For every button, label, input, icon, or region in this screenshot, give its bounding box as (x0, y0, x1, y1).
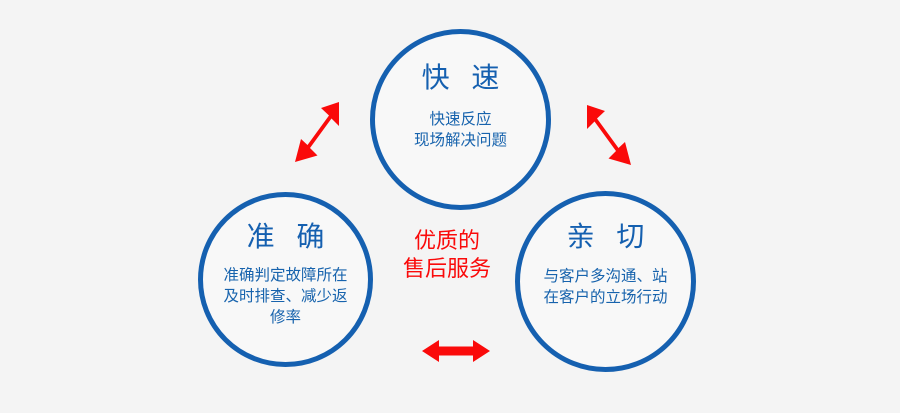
circle-node-right[interactable]: 亲 切 与客户多沟通、站 在客户的立场行动 (515, 191, 696, 372)
circle-left-title: 准 确 (240, 223, 332, 251)
circle-node-left[interactable]: 准 确 准确判定故障所在 及时排查、减少返 修率 (198, 192, 373, 367)
circle-node-top[interactable]: 快 速 快速反应 现场解决问题 (370, 29, 551, 210)
circle-left-body: 准确判定故障所在 及时排查、减少返 修率 (223, 265, 347, 328)
circle-right-body: 与客户多沟通、站 在客户的立场行动 (543, 266, 667, 308)
double-arrow-horizontal-icon (420, 335, 492, 367)
circle-top-body: 快速反应 现场解决问题 (414, 109, 507, 151)
double-arrow-diagonal-down-right-icon (578, 99, 634, 175)
center-label: 优质的 售后服务 (386, 227, 508, 283)
circle-right-title: 亲 切 (560, 223, 652, 251)
diagram-canvas: 快 速 快速反应 现场解决问题 准 确 准确判定故障所在 及时排查、减少返 修率… (0, 0, 900, 413)
double-arrow-diagonal-up-right-icon (292, 96, 348, 172)
circle-top-title: 快 速 (415, 64, 507, 92)
